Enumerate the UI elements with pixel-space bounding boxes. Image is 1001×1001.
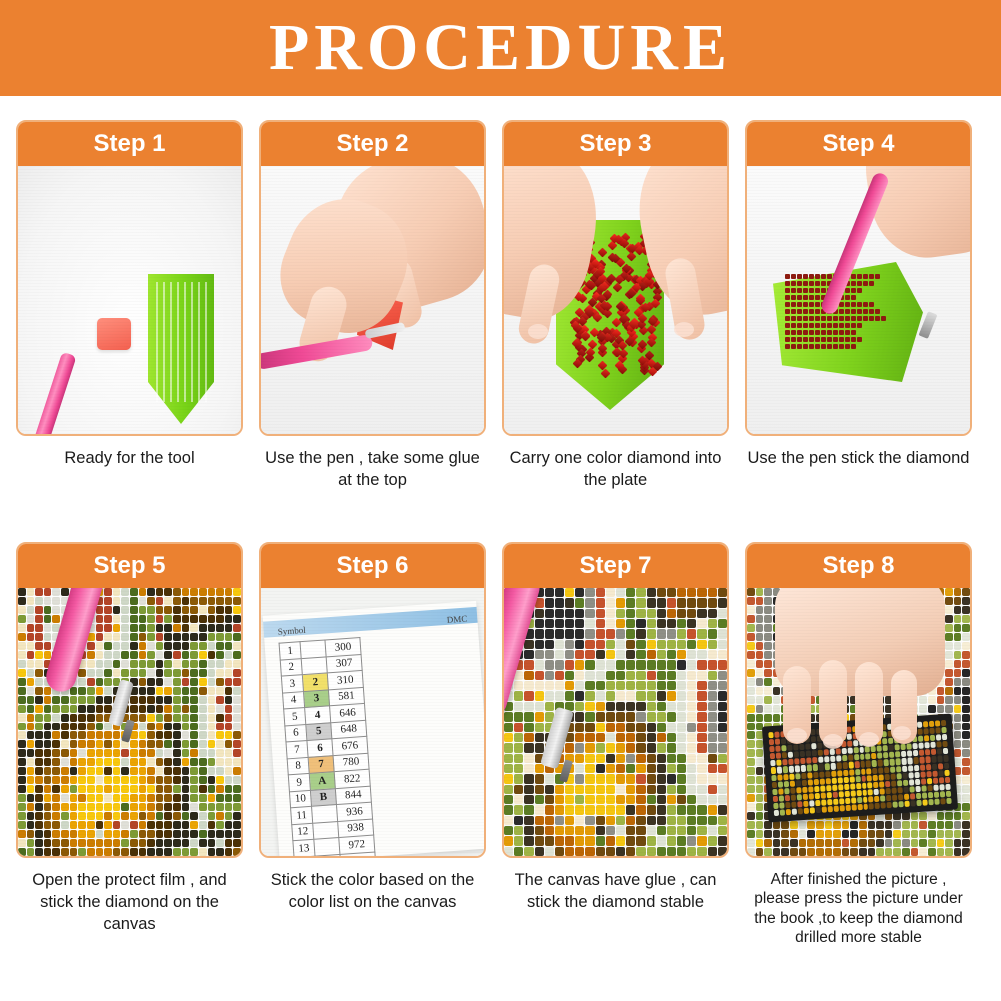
step-card-4: Step 4: [745, 120, 972, 436]
illustration-color-chart: Symbol DMC 13002307323104358154646656487…: [261, 588, 484, 856]
diamond-canvas: [504, 588, 727, 856]
step-header-5: Step 5: [18, 544, 241, 588]
step-header-7: Step 7: [504, 544, 727, 588]
step-image-6: Symbol DMC 13002307323104358154646656487…: [261, 588, 484, 856]
step-caption-4: Use the pen stick the diamond: [747, 448, 970, 520]
page-title: PROCEDURE: [269, 15, 732, 81]
step-label-3: Step 3: [579, 130, 651, 158]
step-cell-3: Step 3 C: [502, 120, 729, 520]
step-header-2: Step 2: [261, 122, 484, 166]
chart-header-dmc: DMC: [446, 614, 467, 625]
step-label-4: Step 4: [822, 130, 894, 158]
step-label-1: Step 1: [93, 130, 165, 158]
step-cell-4: Step 4 Use the pen stick the diamond: [745, 120, 972, 520]
step-label-2: Step 2: [336, 130, 408, 158]
step-label-7: Step 7: [579, 552, 651, 580]
step-image-1: [18, 166, 241, 434]
procedure-page: PROCEDURE Step 1: [0, 0, 1001, 1001]
chart-sheet: Symbol DMC 13002307323104358154646656487…: [263, 601, 484, 856]
step-card-1: Step 1: [16, 120, 243, 436]
step-label-8: Step 8: [822, 552, 894, 580]
step-image-5: [18, 588, 241, 856]
step-cell-2: Step 2: [259, 120, 486, 520]
page-header: PROCEDURE: [0, 0, 1001, 96]
illustration-press-book: [747, 588, 970, 856]
step-cell-7: Step 7 The canvas have glue , can stick …: [502, 542, 729, 948]
step-image-7: [504, 588, 727, 856]
step-header-4: Step 4: [747, 122, 970, 166]
step-card-8: Step 8: [745, 542, 972, 858]
step-caption-8: After finished the picture , please pres…: [747, 870, 970, 948]
step-header-8: Step 8: [747, 544, 970, 588]
step-caption-7: The canvas have glue , can stick the dia…: [504, 870, 727, 942]
step-caption-3: Carry one color diamond into the plate: [504, 448, 727, 520]
step-caption-2: Use the pen , take some glue at the top: [261, 448, 484, 520]
step-card-5: Step 5: [16, 542, 243, 858]
step-cell-8: Step 8: [745, 542, 972, 948]
illustration-pen-pick: [747, 166, 970, 434]
illustration-diamonds-tray: [504, 166, 727, 434]
step-card-3: Step 3: [502, 120, 729, 436]
illustration-pen-glue: [261, 166, 484, 434]
illustration-canvas-film: [18, 588, 241, 856]
step-card-7: Step 7: [502, 542, 729, 858]
step-cell-5: Step 5 Open the protect film , and stick…: [16, 542, 243, 948]
step-header-6: Step 6: [261, 544, 484, 588]
step-cell-1: Step 1: [16, 120, 243, 520]
step-cell-6: Step 6 Symbol DMC 1300230732310435815464…: [259, 542, 486, 948]
step-caption-1: Ready for the tool: [18, 448, 241, 520]
color-list-table: 130023073231043581546466564876676877809A…: [279, 637, 377, 856]
step-header-1: Step 1: [18, 122, 241, 166]
step-image-4: [747, 166, 970, 434]
illustration-glued-canvas: [504, 588, 727, 856]
chart-header-symbol: Symbol: [277, 625, 306, 637]
step-card-2: Step 2: [259, 120, 486, 436]
steps-grid: Step 1: [0, 96, 1001, 948]
step-header-3: Step 3: [504, 122, 727, 166]
step-image-3: [504, 166, 727, 434]
step-caption-6: Stick the color based on the color list …: [261, 870, 484, 942]
step-caption-5: Open the protect film , and stick the di…: [18, 870, 241, 942]
illustration-tools: [18, 166, 241, 434]
step-label-6: Step 6: [336, 552, 408, 580]
step-image-8: [747, 588, 970, 856]
step-image-2: [261, 166, 484, 434]
step-card-6: Step 6 Symbol DMC 1300230732310435815464…: [259, 542, 486, 858]
glue-square-icon: [97, 318, 131, 350]
step-label-5: Step 5: [93, 552, 165, 580]
